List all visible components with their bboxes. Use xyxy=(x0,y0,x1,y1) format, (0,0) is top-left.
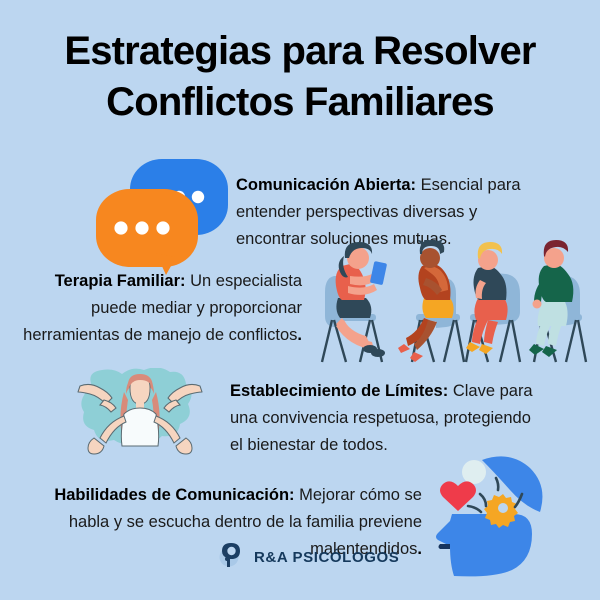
group-person-2 xyxy=(398,240,464,362)
setting-limits-illustration xyxy=(64,368,216,465)
group-person-4 xyxy=(529,240,586,362)
group-person-1 xyxy=(322,242,387,362)
block-trailing: . xyxy=(297,326,302,344)
block-heading: Establecimiento de Límites: xyxy=(230,382,448,400)
block-trailing: . xyxy=(417,540,422,558)
speech-bubbles-illustration xyxy=(94,157,230,280)
infographic-canvas: Estrategias para Resolver Conflictos Fam… xyxy=(0,0,600,600)
block-heading: Habilidades de Comunicación: xyxy=(54,486,294,504)
block-heading: Terapia Familiar: xyxy=(55,272,186,290)
page-title-line-1: Estrategias para Resolver xyxy=(0,26,600,77)
group-therapy-illustration xyxy=(312,240,590,373)
text-block-terapia-familiar: Terapia Familiar: Un especialista puede … xyxy=(20,268,302,349)
speech-bubble-orange xyxy=(96,189,198,275)
open-mind-head-illustration xyxy=(424,452,574,583)
psychology-head-p-icon xyxy=(219,541,245,574)
brand-logo-text: R&A PSICÓLOGOS xyxy=(254,549,399,566)
page-title-line-2: Conflictos Familiares xyxy=(0,77,600,128)
text-block-establecimiento-de-limites: Establecimiento de Límites: Clave para u… xyxy=(230,378,534,459)
brand-logo[interactable]: R&A PSICÓLOGOS xyxy=(219,541,399,574)
block-heading: Comunicación Abierta: xyxy=(236,176,416,194)
page-title: Estrategias para Resolver Conflictos Fam… xyxy=(0,26,600,128)
group-person-3 xyxy=(466,242,520,362)
head-base xyxy=(436,514,532,576)
idea-bubble-icon xyxy=(462,460,486,484)
